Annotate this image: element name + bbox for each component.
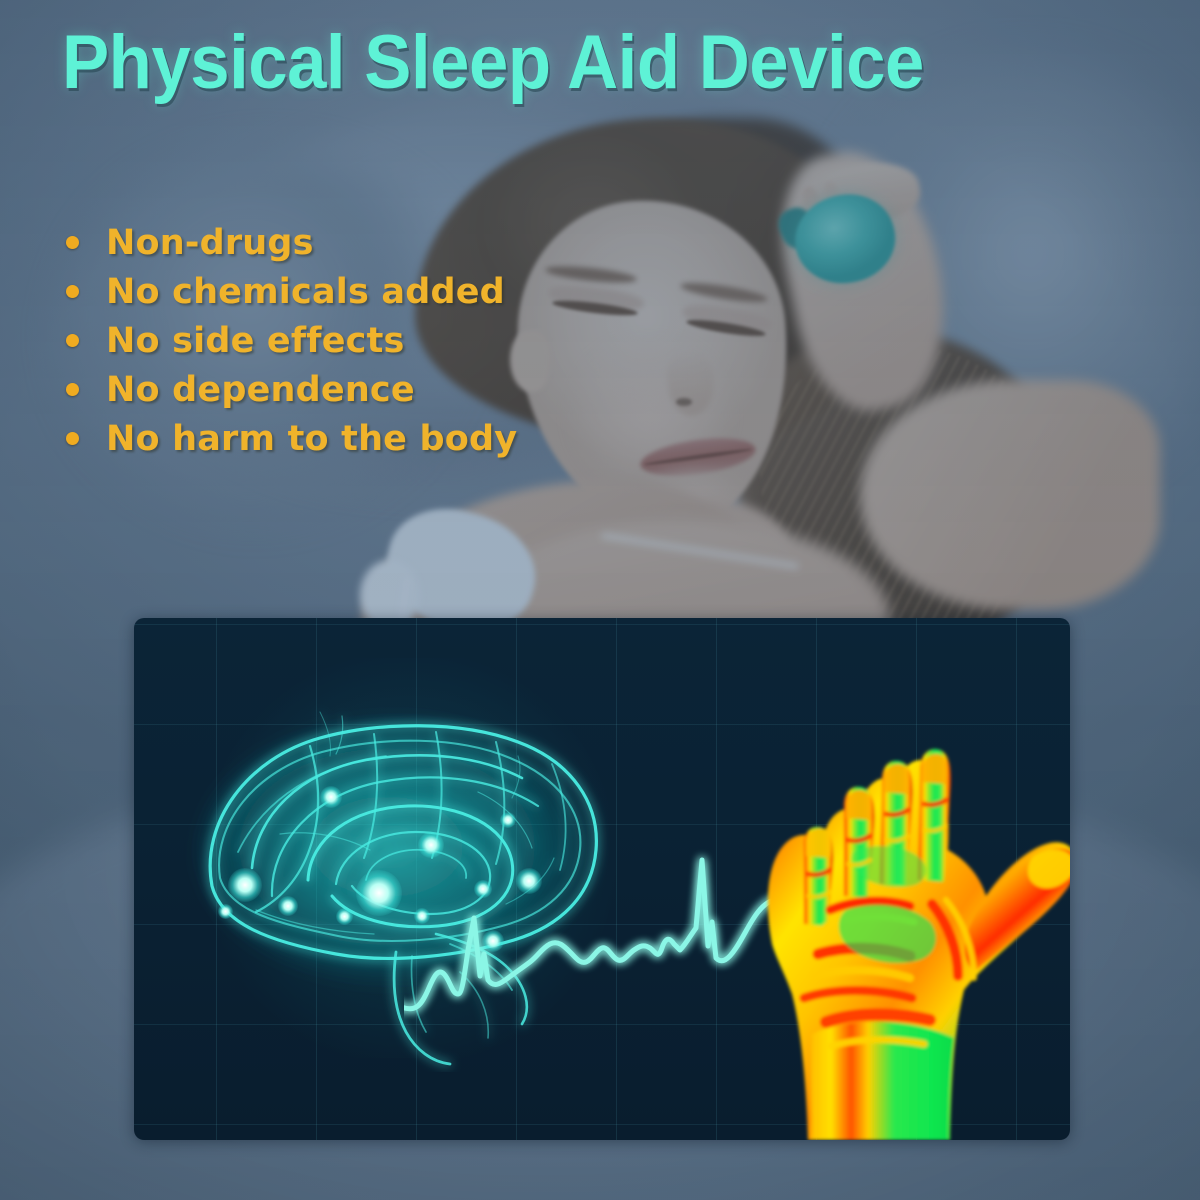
benefit-label: No dependence [106, 370, 415, 410]
benefit-label: No harm to the body [106, 419, 517, 459]
synapse-node [228, 868, 262, 902]
list-item: No chemicals added [66, 267, 517, 316]
page-title: Physical Sleep Aid Device [62, 24, 992, 102]
benefit-label: No chemicals added [106, 272, 505, 312]
benefit-label: Non-drugs [106, 223, 314, 263]
thermal-hand-image [734, 654, 1070, 1140]
list-item: Non-drugs [66, 218, 517, 267]
bullet-dot-icon [66, 236, 79, 249]
synapse-node [278, 896, 298, 916]
benefits-list: Non-drugs No chemicals added No side eff… [66, 218, 517, 463]
bullet-dot-icon [66, 334, 79, 347]
technology-diagram-panel [134, 618, 1070, 1140]
synapse-node [336, 908, 353, 925]
bullet-dot-icon [66, 285, 79, 298]
synapse-node [356, 870, 402, 916]
list-item: No harm to the body [66, 414, 517, 463]
thermal-hand-svg [734, 654, 1070, 1140]
list-item: No dependence [66, 365, 517, 414]
panel-clip [134, 618, 1070, 1140]
synapse-node [320, 786, 342, 808]
synapse-node [218, 904, 233, 919]
poster-root: Physical Sleep Aid Device Non-drugs No c… [0, 0, 1200, 1200]
benefit-label: No side effects [106, 321, 405, 361]
bullet-dot-icon [66, 383, 79, 396]
list-item: No side effects [66, 316, 517, 365]
bullet-dot-icon [66, 432, 79, 445]
